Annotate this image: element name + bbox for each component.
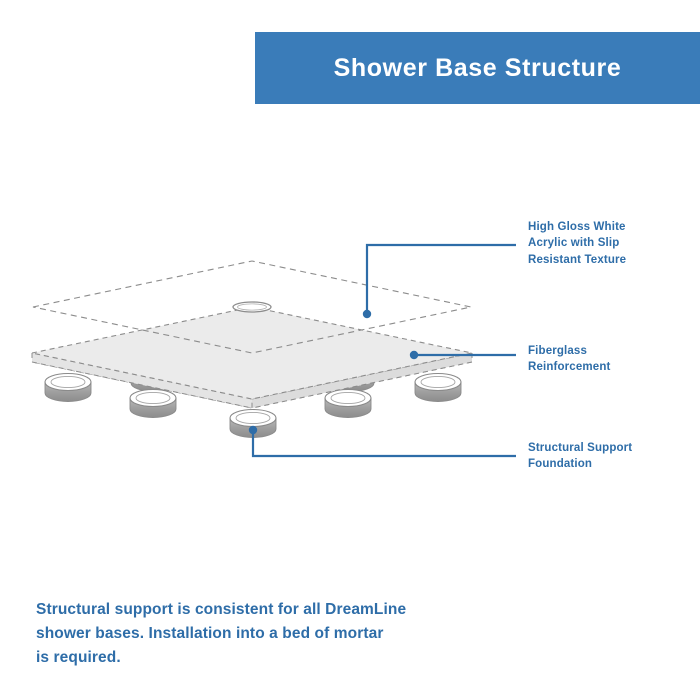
support-ring: [328, 364, 374, 392]
leader-dot: [410, 351, 418, 359]
support-ring-group: [45, 364, 461, 438]
slab-edge-right: [252, 353, 472, 408]
diagram-page: Shower Base Structure: [0, 0, 700, 700]
slab-top-face: [32, 307, 472, 399]
support-ring: [130, 390, 176, 418]
page-title: Shower Base Structure: [334, 54, 622, 83]
drain-icon: [233, 302, 271, 312]
support-ring: [45, 374, 91, 402]
support-ring: [131, 364, 177, 392]
leader-dot: [363, 310, 371, 318]
leader-line-fiberglass: [410, 351, 516, 359]
callout-label-structural-support: Structural Support Foundation: [528, 440, 693, 473]
page-title-banner: Shower Base Structure: [255, 32, 700, 104]
acrylic-panel-outline: [33, 261, 471, 353]
callout-label-fiberglass: Fiberglass Reinforcement: [528, 343, 688, 376]
acrylic-top-layer: [33, 261, 471, 353]
footer-note: Structural support is consistent for all…: [36, 598, 506, 670]
fiberglass-slab-layer: [32, 307, 472, 408]
leader-line-acrylic: [363, 245, 516, 318]
slab-edge-left: [32, 353, 252, 408]
leader-line-support: [249, 426, 516, 456]
support-ring: [415, 374, 461, 402]
support-ring: [229, 378, 275, 406]
slab-underside: [32, 316, 472, 408]
leader-line-group: [249, 245, 516, 456]
support-ring: [230, 410, 276, 438]
callout-label-acrylic: High Gloss White Acrylic with Slip Resis…: [528, 219, 688, 268]
support-ring: [325, 390, 371, 418]
leader-dot: [249, 426, 257, 434]
